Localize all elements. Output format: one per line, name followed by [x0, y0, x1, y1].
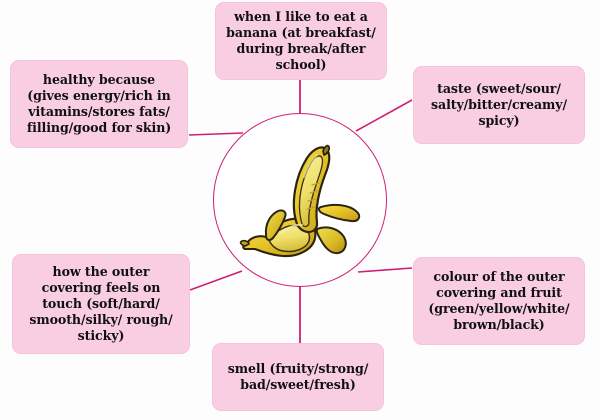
node-touch[interactable]: how the outer covering feels on touch (s…	[12, 254, 190, 354]
mindmap-canvas: when I like to eat a banana (at breakfas…	[0, 0, 600, 420]
center-hub	[213, 113, 387, 287]
node-when-to-eat[interactable]: when I like to eat a banana (at breakfas…	[215, 2, 387, 80]
node-healthy[interactable]: healthy because (gives energy/rich in vi…	[10, 60, 188, 148]
banana-illustration	[225, 125, 375, 275]
node-taste[interactable]: taste (sweet/sour/ salty/bitter/creamy/ …	[413, 66, 585, 144]
node-colour[interactable]: colour of the outer covering and fruit (…	[413, 257, 585, 345]
node-smell[interactable]: smell (fruity/strong/ bad/sweet/fresh)	[212, 343, 384, 411]
